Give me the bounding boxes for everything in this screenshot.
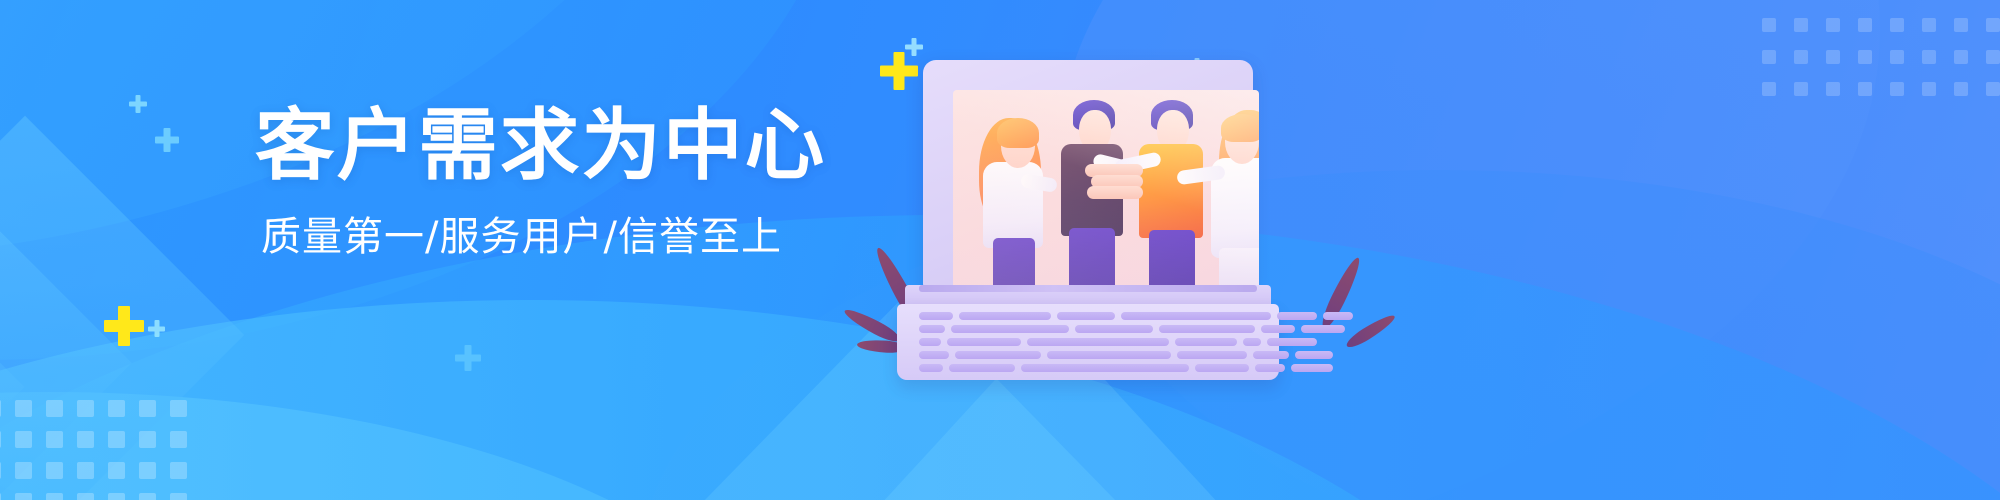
banner-copy: 客户需求为中心 质量第一/服务用户/信誉至上: [255, 104, 795, 260]
keyboard-key: [1255, 364, 1285, 372]
plus-cyan-icon-5: [455, 345, 481, 371]
keyboard-key: [1027, 338, 1169, 346]
laptop-keyboard-deck: [897, 304, 1279, 380]
keyboard-key: [1075, 325, 1153, 333]
keyboard-key: [949, 364, 1015, 372]
chevron-ribbon-1: [0, 116, 244, 500]
keyboard-key: [1159, 325, 1255, 333]
plus-cyan-icon-3: [155, 128, 179, 152]
keyboard-key: [1261, 325, 1295, 333]
chevron-ribbon-2: [0, 186, 132, 500]
keyboard-key: [1253, 351, 1289, 359]
keyboard-key: [947, 338, 1021, 346]
keyboard-row: [919, 338, 1317, 346]
laptop-illustration: [905, 42, 1325, 382]
keyboard-key: [919, 364, 943, 372]
plus-cyan-icon-2: [129, 95, 147, 113]
keyboard-key: [1323, 312, 1353, 320]
keyboard-key: [919, 312, 953, 320]
keyboard-key: [1047, 351, 1171, 359]
keyboard-row: [919, 364, 1333, 372]
chevron-ribbon-3: [0, 253, 24, 500]
keyboard-key: [919, 351, 949, 359]
keyboard-key: [1121, 312, 1271, 320]
keyboard-key: [1291, 364, 1333, 372]
laptop-screen: [953, 90, 1259, 296]
keyboard-key: [1195, 364, 1249, 372]
keyboard-key: [951, 325, 1069, 333]
plus-yellow-small-icon: [104, 306, 144, 346]
keyboard-key: [1057, 312, 1115, 320]
keyboard-row: [919, 325, 1345, 333]
keyboard-row: [919, 312, 1353, 320]
banner-headline: 客户需求为中心: [255, 104, 806, 188]
keyboard-key: [1267, 338, 1317, 346]
dot-grid-top-right: [1762, 0, 2000, 96]
keyboard-key: [1177, 351, 1247, 359]
keyboard-key: [919, 338, 941, 346]
plus-cyan-icon-4: [148, 320, 165, 337]
wave-shape-f: [0, 392, 800, 500]
keyboard-key: [1175, 338, 1237, 346]
banner-subtitle: 质量第一/服务用户/信誉至上: [261, 214, 795, 260]
laptop-lid: [923, 60, 1253, 288]
keyboard-key: [1277, 312, 1317, 320]
laptop-hinge: [919, 285, 1257, 292]
keyboard-key: [919, 325, 945, 333]
promo-banner: 客户需求为中心 质量第一/服务用户/信誉至上: [0, 0, 2000, 500]
keyboard-row: [919, 351, 1333, 359]
dot-grid-bottom-left: [0, 400, 187, 500]
screen-overlay: [953, 90, 1259, 296]
keyboard-key: [959, 312, 1051, 320]
keyboard-key: [1295, 351, 1333, 359]
keyboard-key: [1021, 364, 1189, 372]
keyboard-key: [1243, 338, 1261, 346]
keyboard-key: [1301, 325, 1345, 333]
keyboard-key: [955, 351, 1041, 359]
